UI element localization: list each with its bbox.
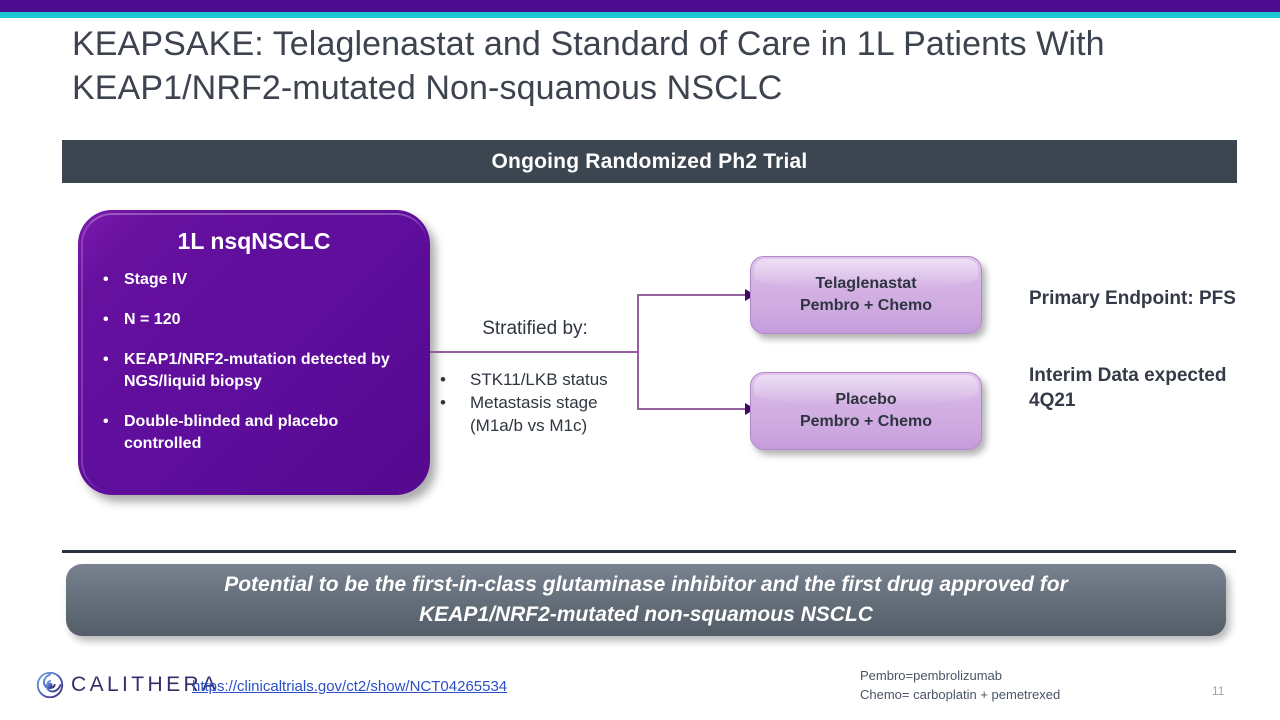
page-number: 11 [1212,684,1224,698]
list-item-label: N = 120 [124,311,180,328]
arm-label-line1: Telaglenastat [815,273,916,295]
interim-data-text: Interim Data expected 4Q21 [1029,363,1239,413]
population-box: 1L nsqNSCLC • Stage IV • N = 120 • KEAP1… [78,210,430,495]
bullet-glyph: • [440,368,446,391]
clinicaltrials-link[interactable]: https://clinicaltrials.gov/ct2/show/NCT0… [192,678,507,695]
list-item: • Double-blinded and placebo controlled [100,411,408,455]
abbreviation-footnotes: Pembro=pembrolizumab Chemo= carboplatin … [860,666,1060,704]
arm-label-line2: Pembro + Chemo [800,411,932,433]
connector-line-top-arm [637,294,747,296]
slide-canvas: KEAPSAKE: Telaglenastat and Standard of … [0,0,1280,720]
list-item-label: STK11/LKB status [470,370,608,389]
population-box-title: 1L nsqNSCLC [100,228,408,255]
arm-label-line1: Placebo [835,389,896,411]
page-title: KEAPSAKE: Telaglenastat and Standard of … [72,22,1222,110]
list-item: • STK11/LKB status [434,368,649,391]
section-header-strip: Ongoing Randomized Ph2 Trial [62,140,1237,183]
connector-line-main [430,351,638,353]
list-item-label: Metastasis stage [470,393,598,412]
list-item-label: Double-blinded and placebo controlled [124,413,338,452]
bullet-glyph: • [440,391,446,414]
bullet-glyph: • [103,411,109,433]
footnote-chemo: Chemo= carboplatin + pemetrexed [860,685,1060,704]
connector-line-bottom-arm [637,408,747,410]
stratification-list: • STK11/LKB status • Metastasis stage (M… [434,368,649,437]
summary-banner-line1: Potential to be the first-in-class gluta… [224,570,1068,600]
stratification-title: Stratified by: [430,318,640,340]
footnote-pembro: Pembro=pembrolizumab [860,666,1060,685]
list-item-label: Stage IV [124,271,187,288]
bullet-glyph: • [103,349,109,371]
calithera-swirl-icon [36,671,64,699]
summary-banner-line2: KEAP1/NRF2-mutated non-squamous NSCLC [419,600,873,630]
arm-label-line2: Pembro + Chemo [800,295,932,317]
primary-endpoint-text: Primary Endpoint: PFS [1029,286,1239,311]
section-header-label: Ongoing Randomized Ph2 Trial [492,150,808,174]
population-bullet-list: • Stage IV • N = 120 • KEAP1/NRF2-mutati… [100,269,408,455]
top-accent-bar-purple [0,0,1280,12]
treatment-arm-box-telaglenastat: Telaglenastat Pembro + Chemo [750,256,982,334]
list-item-label: KEAP1/NRF2-mutation detected by NGS/liqu… [124,351,390,390]
bullet-glyph: • [103,269,109,291]
list-item: • Metastasis stage [434,391,649,414]
bullet-glyph: • [103,309,109,331]
list-item: • Stage IV [100,269,408,291]
stratification-continuation: (M1a/b vs M1c) [434,414,649,437]
list-item: • KEAP1/NRF2-mutation detected by NGS/li… [100,349,408,393]
horizontal-divider [62,550,1236,553]
treatment-arm-box-placebo: Placebo Pembro + Chemo [750,372,982,450]
list-item: • N = 120 [100,309,408,331]
top-accent-bar-cyan [0,12,1280,18]
summary-banner: Potential to be the first-in-class gluta… [66,564,1226,636]
